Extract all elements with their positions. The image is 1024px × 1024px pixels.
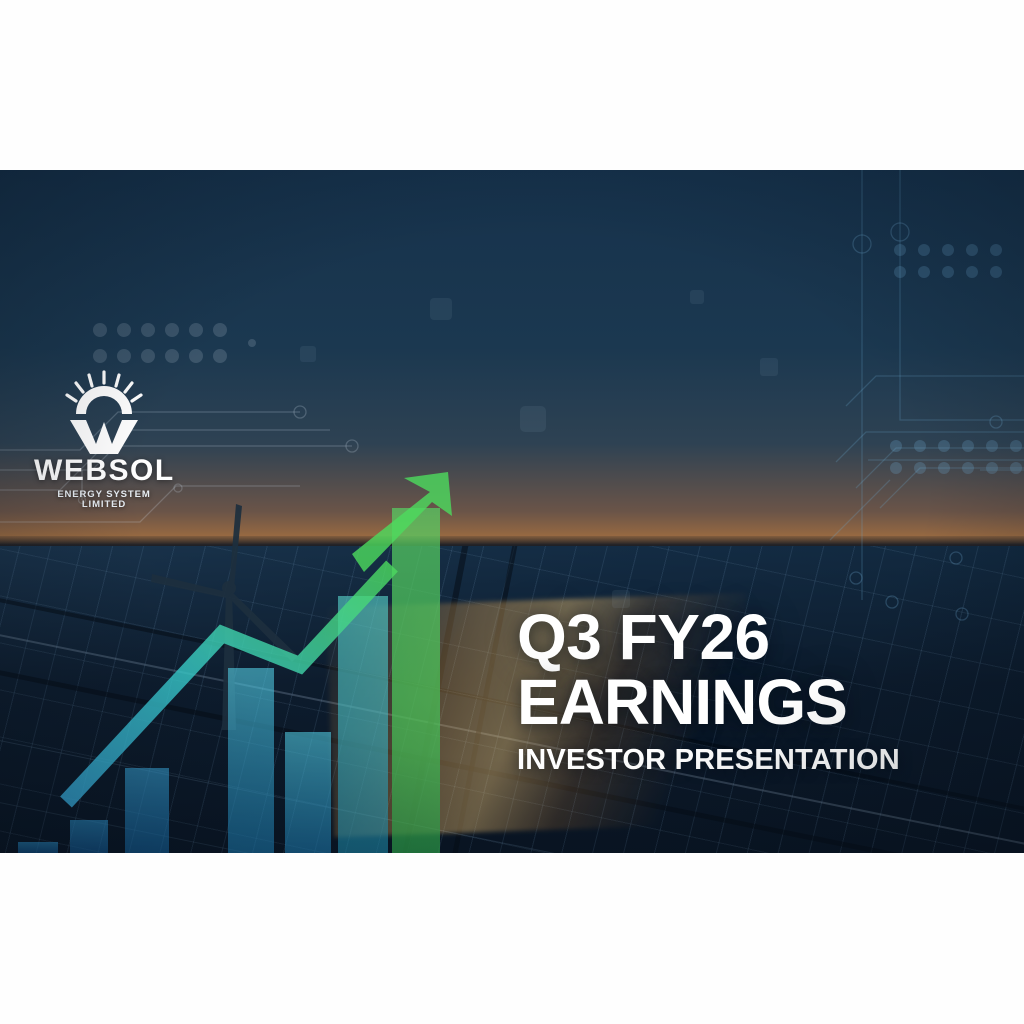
title-slide-banner: WEBSOL ENERGY SYSTEM LIMITED Q3 FY26 EAR… (0, 170, 1024, 853)
title-line-2: EARNINGS (517, 673, 987, 732)
logo-wordmark: WEBSOL (34, 456, 174, 486)
panel-seam-vertical (413, 546, 525, 853)
websol-logo[interactable]: WEBSOL ENERGY SYSTEM LIMITED (34, 370, 174, 509)
title-block: Q3 FY26 EARNINGS INVESTOR PRESENTATION (517, 608, 987, 775)
title-subtitle: INVESTOR PRESENTATION (517, 746, 987, 775)
panel-seam-vertical (363, 546, 476, 853)
panel-seam (0, 794, 1024, 853)
title-line-1: Q3 FY26 (517, 608, 987, 667)
slide-page: WEBSOL ENERGY SYSTEM LIMITED Q3 FY26 EAR… (0, 0, 1024, 1024)
logo-tagline: ENERGY SYSTEM LIMITED (34, 490, 174, 509)
sun-over-w-icon (56, 370, 152, 454)
